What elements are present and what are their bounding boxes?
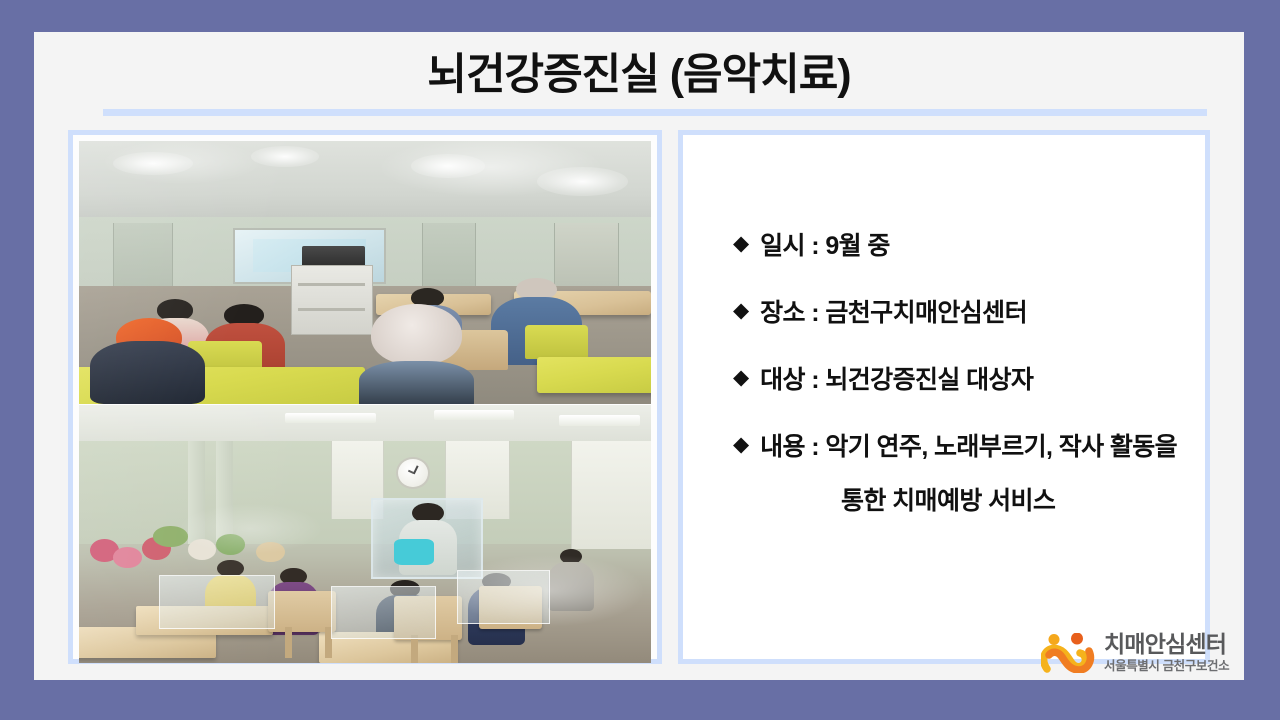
photo2-column xyxy=(188,441,205,544)
photo1-person-body xyxy=(90,341,204,404)
info-bullet-list: ◆ 일시 : 9월 중 ◆ 장소 : 금천구치매안심센터 ◆ 대상 : 뇌건강증… xyxy=(733,231,1193,549)
photo2-chair-leg xyxy=(285,627,292,658)
photo1-person-foreground xyxy=(354,304,480,404)
photo2-participant-body xyxy=(548,562,594,612)
photo1-doorway xyxy=(554,223,619,286)
info-item-date: 일시 : 9월 중 xyxy=(760,231,890,261)
center-logo: 치매안심센터 서울특별시 금천구보건소 xyxy=(1041,632,1229,674)
slide-root: 뇌건강증진실 (음악치료) xyxy=(0,0,1280,720)
photo1-chair xyxy=(525,325,588,359)
list-item: ◆ 내용 : 악기 연주, 노래부르기, 작사 활동을 xyxy=(733,432,1193,462)
photo2-desk-shield xyxy=(331,586,436,640)
photo1-person-head xyxy=(371,304,462,365)
logo-subtitle: 서울특별시 금천구보건소 xyxy=(1104,659,1229,674)
photo2-desk-shield xyxy=(159,575,275,629)
photo1-person-body xyxy=(359,361,475,404)
title-divider xyxy=(103,109,1207,116)
photo2-flower xyxy=(113,547,142,568)
diamond-bullet-icon: ◆ xyxy=(733,232,749,256)
photo2-scene xyxy=(79,405,651,663)
list-item: ◆ 대상 : 뇌건강증진실 대상자 xyxy=(733,365,1193,395)
logo-text-block: 치매안심센터 서울특별시 금천구보건소 xyxy=(1104,632,1229,674)
list-item: ◆ 일시 : 9월 중 xyxy=(733,231,1193,261)
photo2-flower xyxy=(256,542,285,563)
info-panel: ◆ 일시 : 9월 중 ◆ 장소 : 금천구치매안심센터 ◆ 대상 : 뇌건강증… xyxy=(678,130,1210,664)
info-item-content: 내용 : 악기 연주, 노래부르기, 작사 활동을 xyxy=(760,432,1177,462)
photo2-ceiling-light xyxy=(434,410,514,420)
photo1-doorway xyxy=(113,223,172,286)
photo1-doorway xyxy=(422,223,475,286)
info-item-content-continued: 통한 치매예방 서비스 xyxy=(841,481,1193,517)
photo1-table xyxy=(537,357,651,394)
photo1-ceiling-light xyxy=(411,154,485,178)
photo2-flower xyxy=(216,534,245,555)
photo1-scene xyxy=(79,141,651,404)
photo2-ceiling-light xyxy=(285,413,377,423)
photo2-window-blind xyxy=(571,441,651,549)
photo1-ceiling-light xyxy=(113,152,193,176)
photo2-participant xyxy=(548,549,594,611)
diamond-bullet-icon: ◆ xyxy=(733,366,749,390)
photo2-column xyxy=(216,441,233,544)
page-title: 뇌건강증진실 (음악치료) xyxy=(427,50,850,101)
photo1-ceiling-light xyxy=(537,167,629,196)
photo2-chair-leg xyxy=(451,635,458,663)
music-therapy-room-photo xyxy=(79,405,651,663)
dementia-care-center-logo-icon xyxy=(1041,633,1095,673)
photo-panel xyxy=(68,130,662,664)
list-item: ◆ 장소 : 금천구치매안심센터 xyxy=(733,298,1193,328)
logo-title: 치매안심센터 xyxy=(1104,632,1229,656)
slide-card: 뇌건강증진실 (음악치료) xyxy=(34,32,1244,680)
page-title-wrap: 뇌건강증진실 (음악치료) xyxy=(34,50,1244,101)
photo2-desk-shield xyxy=(457,570,551,624)
info-item-target: 대상 : 뇌건강증진실 대상자 xyxy=(760,365,1033,395)
photo2-chair xyxy=(268,591,337,632)
photo2-flower xyxy=(188,539,217,560)
photo2-flower xyxy=(153,526,187,547)
photo-stack xyxy=(79,141,651,653)
info-item-place: 장소 : 금천구치매안심센터 xyxy=(760,298,1027,328)
photo2-instrument-highlight xyxy=(394,539,434,565)
diamond-bullet-icon: ◆ xyxy=(733,299,749,323)
diamond-bullet-icon: ◆ xyxy=(733,433,749,457)
photo1-person-foreground xyxy=(90,315,204,404)
photo2-ceiling-light xyxy=(559,415,639,425)
classroom-projection-photo xyxy=(79,141,651,404)
photo2-wall-clock xyxy=(396,457,430,489)
